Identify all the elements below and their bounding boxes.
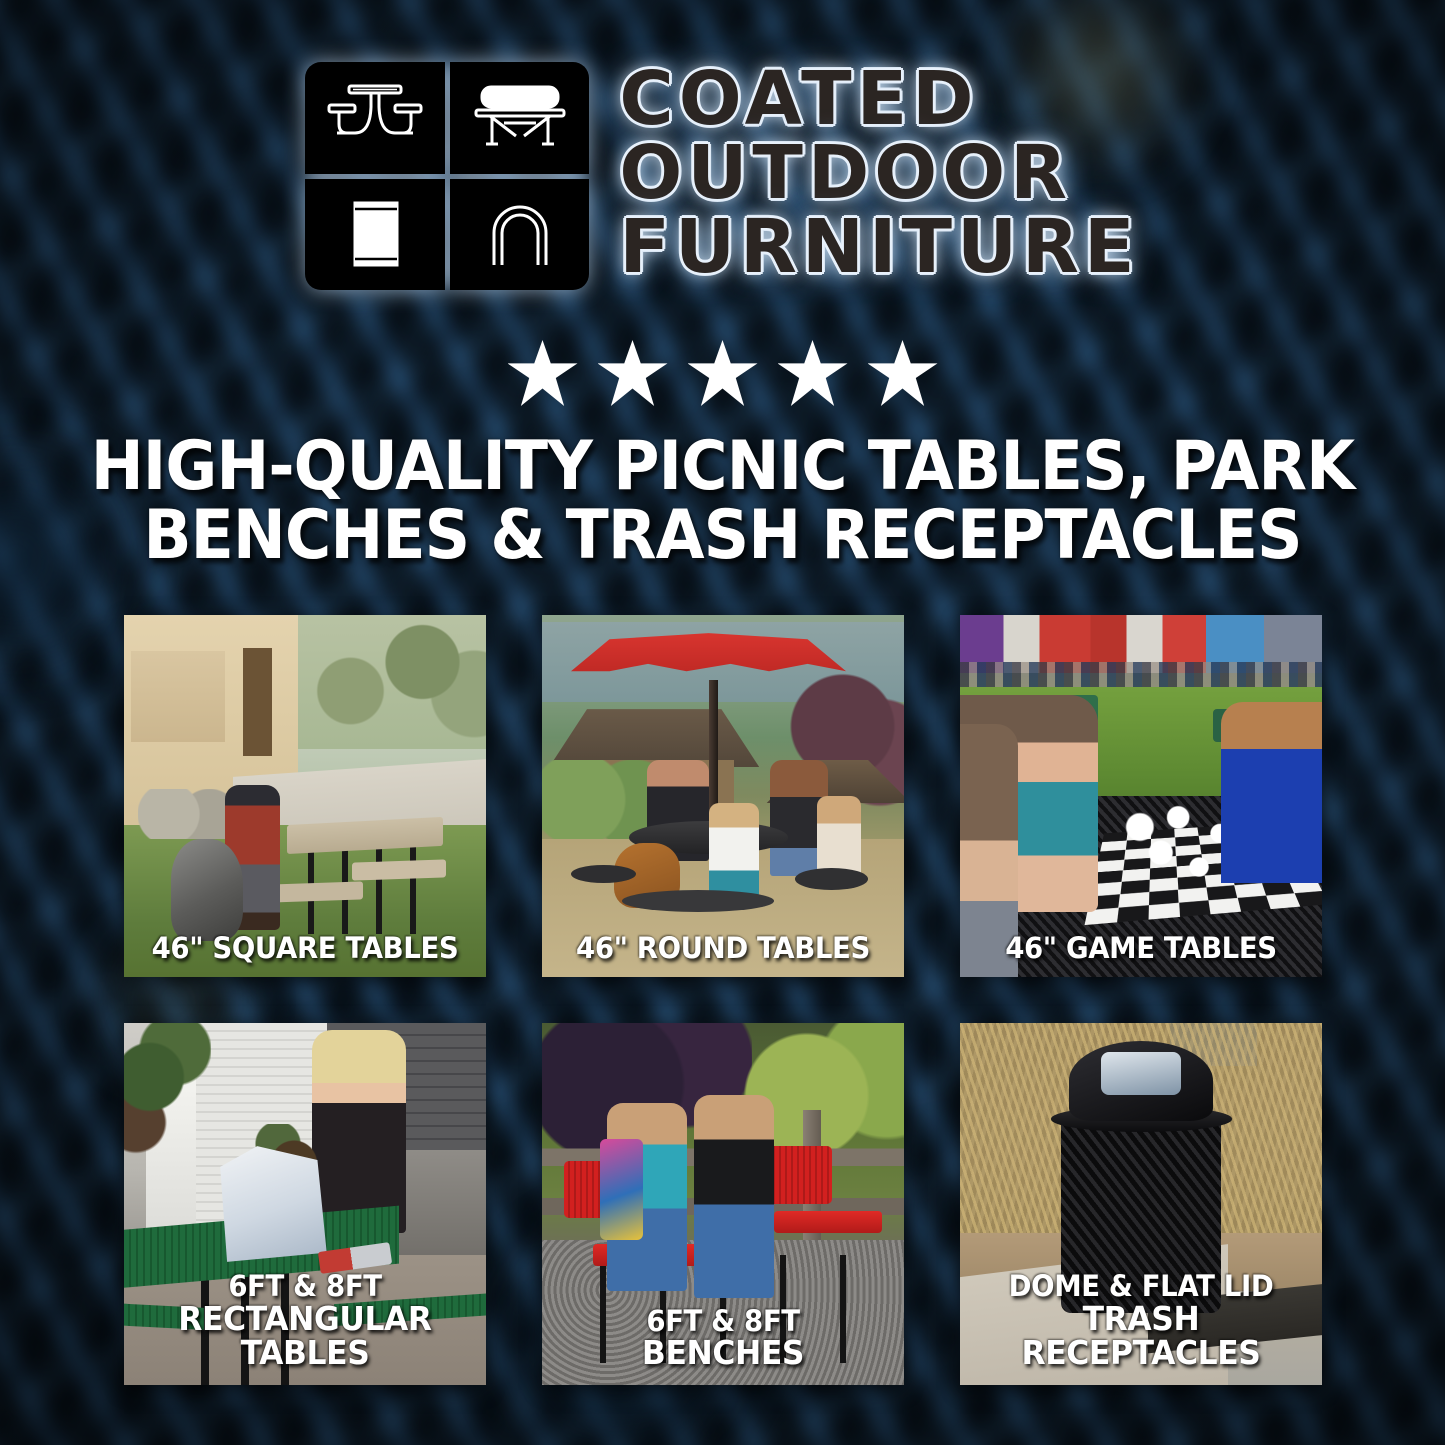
star-icon — [868, 340, 938, 406]
rating-stars — [0, 340, 1445, 406]
caption-line-1: DOME & FLAT LID — [969, 1271, 1313, 1301]
caption-line-2: RECTANGULAR TABLES — [133, 1302, 477, 1371]
product-photo-game-tables — [960, 615, 1322, 977]
logo-wordmark: COATED OUTDOOR FURNITURE — [619, 62, 1139, 283]
product-caption: 6FT & 8FT BENCHES — [551, 1306, 895, 1371]
headline-line-2: BENCHES & TRASH RECEPTACLES — [51, 501, 1395, 570]
caption-line-2: TRASH RECEPTACLES — [969, 1302, 1313, 1371]
product-tile-game-tables[interactable]: 46" GAME TABLES — [960, 615, 1322, 977]
brand-logo: COATED OUTDOOR FURNITURE — [0, 62, 1445, 290]
product-tile-rectangular-tables[interactable]: 6FT & 8FT RECTANGULAR TABLES — [124, 1023, 486, 1385]
product-caption: DOME & FLAT LID TRASH RECEPTACLES — [969, 1271, 1313, 1371]
headline-line-1: HIGH-QUALITY PICNIC TABLES, PARK — [51, 432, 1395, 501]
caption-line-1: 46" SQUARE TABLES — [133, 933, 477, 963]
caption-line-1: 46" ROUND TABLES — [551, 933, 895, 963]
product-caption: 6FT & 8FT RECTANGULAR TABLES — [133, 1271, 477, 1371]
logo-icon-grid — [305, 62, 589, 290]
promotional-poster: COATED OUTDOOR FURNITURE HIGH-QUALITY PI… — [0, 0, 1445, 1445]
caption-line-1: 46" GAME TABLES — [969, 933, 1313, 963]
star-icon — [508, 340, 578, 406]
picnic-table-icon — [305, 62, 445, 174]
caption-line-1: 6FT & 8FT — [551, 1306, 895, 1336]
product-caption: 46" ROUND TABLES — [551, 933, 895, 963]
trash-receptacle-icon — [305, 179, 445, 291]
product-photo-round-tables — [542, 615, 904, 977]
caption-line-2: BENCHES — [551, 1336, 895, 1371]
product-caption: 46" GAME TABLES — [969, 933, 1313, 963]
page-title: HIGH-QUALITY PICNIC TABLES, PARK BENCHES… — [51, 432, 1395, 571]
logo-line-1: COATED — [619, 64, 1139, 136]
product-grid: 46" SQUARE TABLES — [124, 615, 1322, 1385]
logo-line-3: FURNITURE — [619, 212, 1139, 284]
bench-table-icon — [450, 62, 590, 174]
star-icon — [688, 340, 758, 406]
logo-line-2: OUTDOOR — [619, 138, 1139, 210]
product-tile-benches[interactable]: 6FT & 8FT BENCHES — [542, 1023, 904, 1385]
product-photo-square-tables — [124, 615, 486, 977]
product-tile-round-tables[interactable]: 46" ROUND TABLES — [542, 615, 904, 977]
product-tile-square-tables[interactable]: 46" SQUARE TABLES — [124, 615, 486, 977]
product-tile-trash-receptacles[interactable]: DOME & FLAT LID TRASH RECEPTACLES — [960, 1023, 1322, 1385]
star-icon — [598, 340, 668, 406]
bike-rack-icon — [450, 179, 590, 291]
star-icon — [778, 340, 848, 406]
product-caption: 46" SQUARE TABLES — [133, 933, 477, 963]
caption-line-1: 6FT & 8FT — [133, 1271, 477, 1301]
